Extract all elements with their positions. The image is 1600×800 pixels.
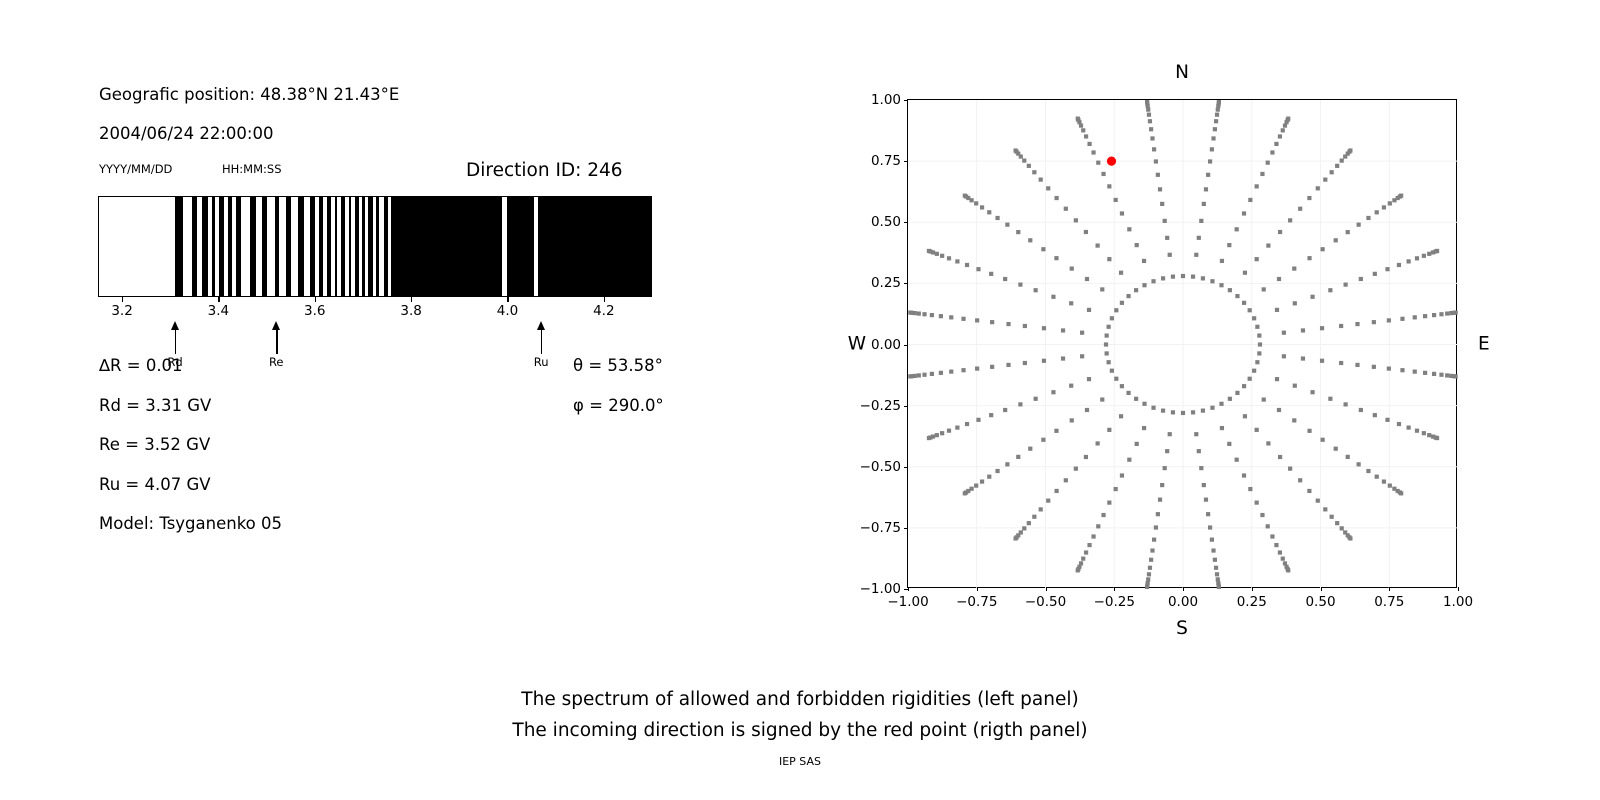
- y-tick-label: 1.00: [871, 92, 901, 108]
- scatter-point: [1107, 428, 1111, 432]
- rigidity-axis: 3.23.43.63.84.04.2RdReRu: [98, 297, 652, 311]
- scatter-point: [1397, 263, 1401, 267]
- forbidden-band: [192, 197, 197, 296]
- scatter-point: [1096, 524, 1100, 528]
- scatter-point: [975, 366, 979, 370]
- scatter-point: [1277, 277, 1281, 281]
- x-tick-mark: [908, 587, 909, 591]
- direction-id-label: Direction ID: 246: [466, 160, 623, 181]
- scatter-point: [947, 429, 951, 433]
- scatter-point: [1388, 484, 1392, 488]
- scatter-point: [1127, 458, 1131, 462]
- scatter-point: [1385, 418, 1389, 422]
- scatter-point: [1227, 442, 1231, 446]
- scatter-point: [1382, 205, 1386, 209]
- scatter-point: [1211, 548, 1215, 552]
- y-tick-label: 0.75: [871, 153, 901, 169]
- scatter-point: [1375, 210, 1379, 214]
- caption-line-2: The incoming direction is signed by the …: [0, 715, 1600, 746]
- geographic-position-label: Geografic position: 48.38°N 21.43°E: [99, 85, 399, 104]
- scatter-point: [1293, 384, 1297, 388]
- y-tick-label: 0.00: [871, 337, 901, 353]
- scatter-point: [1114, 308, 1118, 312]
- x-tick-label: −0.25: [1094, 594, 1135, 610]
- scatter-point: [1163, 466, 1167, 470]
- scatter-point: [1210, 406, 1214, 410]
- scatter-point: [949, 315, 953, 319]
- scatter-point: [1126, 391, 1130, 395]
- axis-tick-label: 4.0: [497, 303, 518, 319]
- scatter-point: [917, 311, 921, 315]
- scatter-point: [1298, 478, 1302, 482]
- scatter-point: [1142, 259, 1146, 263]
- scatter-point: [1282, 354, 1286, 358]
- scatter-point: [1213, 558, 1217, 562]
- scatter-point: [1023, 361, 1027, 365]
- scatter-point: [963, 194, 967, 198]
- scatter-point: [1355, 363, 1359, 367]
- scatter-point: [908, 310, 912, 314]
- scatter-point: [1321, 438, 1325, 442]
- scatter-point: [1087, 308, 1091, 312]
- scatter-point: [1248, 487, 1252, 491]
- scatter-point: [1217, 585, 1221, 589]
- scatter-point: [1154, 525, 1158, 529]
- forbidden-band: [236, 197, 240, 296]
- scatter-point: [1084, 230, 1088, 234]
- parameter-value: Ru = 4.07 GV: [99, 475, 211, 494]
- scatter-point: [1087, 377, 1091, 381]
- scatter-point: [1104, 342, 1108, 346]
- scatter-point: [1214, 566, 1218, 570]
- scatter-point: [922, 312, 926, 316]
- scatter-point: [1119, 414, 1123, 418]
- scatter-point: [1348, 148, 1352, 152]
- scatter-point: [1208, 159, 1212, 163]
- scatter-point: [990, 365, 994, 369]
- scatter-point: [1070, 418, 1074, 422]
- axis-tick-label: 3.8: [400, 303, 421, 319]
- scatter-point: [1202, 202, 1206, 206]
- scatter-point: [1096, 441, 1100, 445]
- scatter-point: [1255, 325, 1259, 329]
- x-tick-label: 0.00: [1168, 594, 1198, 610]
- x-tick-label: 0.50: [1305, 594, 1335, 610]
- scatter-point: [1339, 361, 1343, 365]
- scatter-point: [1454, 374, 1458, 378]
- marker-label: Ru: [534, 355, 549, 369]
- scatter-point: [1274, 543, 1278, 547]
- scatter-point: [927, 249, 931, 253]
- parameter-value: Re = 3.52 GV: [99, 435, 210, 454]
- scatter-point: [1454, 310, 1458, 314]
- scatter-point: [1006, 363, 1010, 367]
- scatter-point: [1423, 371, 1427, 375]
- scatter-point: [1235, 294, 1239, 298]
- forbidden-band: [384, 197, 387, 296]
- scatter-point: [1242, 473, 1246, 477]
- scatter-point: [1148, 566, 1152, 570]
- scatter-point: [1281, 557, 1285, 561]
- scatter-point: [1165, 449, 1169, 453]
- scatter-point: [1084, 550, 1088, 554]
- scatter-point: [1301, 328, 1305, 332]
- scatter-point: [1150, 136, 1154, 140]
- scatter-point: [1152, 538, 1156, 542]
- scatter-point: [1080, 354, 1084, 358]
- scatter-point: [1197, 236, 1201, 240]
- forbidden-band: [368, 197, 372, 296]
- date-format-hint: YYYY/MM/DD: [99, 162, 172, 176]
- scatter-point: [1427, 252, 1431, 256]
- scatter-point: [1051, 295, 1055, 299]
- scatter-point: [1055, 196, 1059, 200]
- scatter-point: [1252, 316, 1256, 320]
- scatter-point: [1022, 526, 1026, 530]
- scatter-point: [1005, 462, 1009, 466]
- scatter-point: [1215, 572, 1219, 576]
- figure-caption: The spectrum of allowed and forbidden ri…: [0, 684, 1600, 746]
- scatter-point: [1286, 117, 1290, 121]
- scatter-point: [995, 216, 999, 220]
- scatter-point: [1156, 173, 1160, 177]
- scatter-point: [1210, 538, 1214, 542]
- scatter-point: [1134, 397, 1138, 401]
- scatter-point: [987, 475, 991, 479]
- scatter-point: [1101, 172, 1105, 176]
- forbidden-band: [262, 197, 267, 296]
- scatter-point: [1148, 119, 1152, 123]
- scatter-point: [1255, 360, 1259, 364]
- scatter-point: [1087, 543, 1091, 547]
- scatter-point: [1307, 489, 1311, 493]
- scatter-point: [1385, 267, 1389, 271]
- scatter-point: [1427, 433, 1431, 437]
- scatter-point: [1076, 117, 1080, 121]
- scatter-point: [939, 371, 943, 375]
- scatter-point: [939, 314, 943, 318]
- scatter-point: [1101, 513, 1105, 517]
- scatter-point: [1445, 311, 1449, 315]
- compass-south-label: S: [1176, 618, 1188, 639]
- scatter-point: [1210, 147, 1214, 151]
- scatter-point: [1054, 256, 1058, 260]
- scatter-point: [1235, 458, 1239, 462]
- parameter-value: φ = 290.0°: [573, 396, 664, 415]
- scatter-point: [975, 318, 979, 322]
- scatter-point: [1076, 568, 1080, 572]
- scatter-point: [1142, 402, 1146, 406]
- scatter-point: [1013, 536, 1017, 540]
- compass-west-label: W: [848, 333, 866, 354]
- scatter-point: [961, 368, 965, 372]
- scatter-point: [1248, 308, 1252, 312]
- scatter-point: [922, 373, 926, 377]
- scatter-point: [1278, 550, 1282, 554]
- scatter-point: [1400, 368, 1404, 372]
- scatter-point: [1114, 198, 1118, 202]
- scatter-point: [1270, 150, 1274, 154]
- scatter-point: [935, 433, 939, 437]
- scatter-point: [1016, 230, 1020, 234]
- scatter-point: [1107, 184, 1111, 188]
- x-tick-label: −0.50: [1025, 594, 1066, 610]
- axis-tick-label: 3.6: [304, 303, 325, 319]
- scatter-point: [1307, 196, 1311, 200]
- scatter-point: [1252, 369, 1256, 373]
- scatter-point: [1266, 243, 1270, 247]
- scatter-point: [1150, 548, 1154, 552]
- scatter-point: [1262, 397, 1266, 401]
- scatter-point: [1255, 428, 1259, 432]
- scatter-point: [1199, 466, 1203, 470]
- parameter-value: Model: Tsyganenko 05: [99, 514, 282, 533]
- y-tick-mark: [904, 161, 908, 162]
- scatter-point: [1160, 483, 1164, 487]
- scatter-point: [1018, 283, 1022, 287]
- scatter-point: [1081, 557, 1085, 561]
- scatter-point: [1084, 134, 1088, 138]
- scatter-point: [1266, 161, 1270, 165]
- rigidity-spectrum-panel: Geografic position: 48.38°N 21.43°E 2004…: [0, 0, 700, 620]
- scatter-point: [1217, 100, 1221, 104]
- scatter-point: [1373, 413, 1377, 417]
- forbidden-band: [175, 197, 182, 296]
- y-tick-label: −0.25: [860, 398, 901, 414]
- scatter-point: [1328, 288, 1332, 292]
- forbidden-band: [335, 197, 338, 296]
- scatter-point: [1257, 333, 1261, 337]
- scatter-point: [1242, 211, 1246, 215]
- scatter-point: [1210, 279, 1214, 283]
- scatter-point: [1147, 113, 1151, 117]
- scatter-point: [1211, 136, 1215, 140]
- forbidden-band: [327, 197, 331, 296]
- scatter-point: [1310, 390, 1314, 394]
- scatter-point: [1027, 521, 1031, 525]
- scatter-point: [1206, 512, 1210, 516]
- y-tick-mark: [904, 100, 908, 101]
- scatter-point: [1266, 524, 1270, 528]
- scatter-point: [1235, 227, 1239, 231]
- axis-tick: [507, 297, 508, 302]
- scatter-point: [1074, 218, 1078, 222]
- scatter-point: [1445, 373, 1449, 377]
- parameter-value: θ = 53.58°: [573, 356, 663, 375]
- scatter-point: [1323, 178, 1327, 182]
- scatter-point: [1282, 331, 1286, 335]
- compass-north-label: N: [1175, 62, 1189, 83]
- scatter-point: [1120, 384, 1124, 388]
- scatter-point: [940, 254, 944, 258]
- axis-tick-label: 4.2: [593, 303, 614, 319]
- scatter-point: [1293, 301, 1297, 305]
- scatter-point: [1316, 499, 1320, 503]
- scatter-point: [1270, 534, 1274, 538]
- y-tick-mark: [904, 528, 908, 529]
- scatter-point: [1142, 283, 1146, 287]
- scatter-point: [1027, 164, 1031, 168]
- scatter-axes: N S W E −1.00−1.00−0.75−0.75−0.50−0.50−0…: [907, 99, 1457, 588]
- scatter-point: [1288, 467, 1292, 471]
- scatter-point: [1274, 142, 1278, 146]
- x-tick-mark: [1321, 587, 1322, 591]
- scatter-point: [1087, 142, 1091, 146]
- scatter-point: [1387, 366, 1391, 370]
- scatter-point: [1357, 223, 1361, 227]
- scatter-point: [1120, 301, 1124, 305]
- scatter-point: [1366, 469, 1370, 473]
- scatter-point: [1277, 408, 1281, 412]
- scatter-point: [1243, 271, 1247, 275]
- scatter-point: [1201, 276, 1205, 280]
- scatter-point: [1262, 287, 1266, 291]
- scatter-point: [965, 263, 969, 267]
- scatter-point: [1145, 585, 1149, 589]
- scatter-point: [1110, 369, 1114, 373]
- scatter-point: [1171, 275, 1175, 279]
- scatter-point: [1013, 148, 1017, 152]
- scatter-point: [1415, 256, 1419, 260]
- axis-tick: [604, 297, 605, 302]
- scatter-point: [1260, 172, 1264, 176]
- x-tick-label: 0.25: [1237, 594, 1267, 610]
- scatter-point: [1181, 411, 1185, 415]
- scatter-point: [930, 372, 934, 376]
- y-tick-label: 0.25: [871, 275, 901, 291]
- scatter-point: [1194, 253, 1198, 257]
- parameter-value: ∆R = 0.01: [99, 356, 183, 375]
- scatter-point: [1415, 429, 1419, 433]
- scatter-point: [1091, 534, 1095, 538]
- scatter-point: [1228, 288, 1232, 292]
- scatter-point: [1154, 159, 1158, 163]
- scatter-point: [1208, 525, 1212, 529]
- scatter-point: [1202, 483, 1206, 487]
- scatter-point: [1080, 331, 1084, 335]
- scatter-point: [976, 418, 980, 422]
- scatter-point: [1126, 294, 1130, 298]
- x-tick-mark: [1389, 587, 1390, 591]
- marker-label: Re: [269, 355, 284, 369]
- scatter-point: [1135, 442, 1139, 446]
- scatter-point: [1286, 568, 1290, 572]
- scatter-point: [1096, 161, 1100, 165]
- forbidden-band: [349, 197, 351, 296]
- scatter-point: [1255, 501, 1259, 505]
- scatter-point: [1243, 414, 1247, 418]
- scatter-point: [1204, 187, 1208, 191]
- scatter-point: [1107, 257, 1111, 261]
- scatter-point: [1152, 147, 1156, 151]
- scatter-point: [1320, 359, 1324, 363]
- scatter-point: [1344, 283, 1348, 287]
- scatter-point: [947, 256, 951, 260]
- scatter-point: [1085, 408, 1089, 412]
- y-tick-mark: [904, 283, 908, 284]
- y-tick-mark: [904, 467, 908, 468]
- scatter-point: [1114, 377, 1118, 381]
- y-tick-label: −1.00: [860, 581, 901, 597]
- scatter-point: [974, 484, 978, 488]
- scatter-point: [1288, 218, 1292, 222]
- x-tick-mark: [977, 587, 978, 591]
- scatter-point: [1191, 275, 1195, 279]
- scatter-point: [1206, 173, 1210, 177]
- caption-line-1: The spectrum of allowed and forbidden ri…: [0, 684, 1600, 715]
- y-tick-label: 0.50: [871, 214, 901, 230]
- scatter-point: [1278, 134, 1282, 138]
- x-tick-label: 0.75: [1374, 594, 1404, 610]
- scatter-point: [1022, 159, 1026, 163]
- scatter-point: [1151, 406, 1155, 410]
- scatter-point: [1181, 274, 1185, 278]
- scatter-point: [1161, 276, 1165, 280]
- scatter-point: [1248, 198, 1252, 202]
- scatter-point: [1214, 119, 1218, 123]
- scatter-point: [1340, 159, 1344, 163]
- scatter-point: [1215, 113, 1219, 117]
- scatter-point: [1032, 515, 1036, 519]
- scatter-point: [1163, 219, 1167, 223]
- forbidden-band: [286, 197, 291, 296]
- scatter-point: [1145, 100, 1149, 104]
- scatter-point: [955, 259, 959, 263]
- axis-tick: [218, 297, 219, 302]
- scatter-point: [980, 205, 984, 209]
- scatter-point: [1046, 499, 1050, 503]
- scatter-point: [1278, 230, 1282, 234]
- scatter-point: [1372, 365, 1376, 369]
- scatter-point: [1348, 536, 1352, 540]
- scatter-point: [1055, 489, 1059, 493]
- scatter-point: [1334, 238, 1338, 242]
- scatter-point: [1135, 243, 1139, 247]
- scatter-point: [1165, 236, 1169, 240]
- scatter-point: [1084, 455, 1088, 459]
- arrow-shaft: [175, 328, 176, 354]
- scatter-point: [917, 373, 921, 377]
- arrow-shaft: [276, 328, 277, 354]
- scatter-point: [1258, 342, 1262, 346]
- y-tick-label: −0.75: [860, 520, 901, 536]
- scatter-point: [1372, 320, 1376, 324]
- scatter-point: [930, 313, 934, 317]
- footer-credit: IEP SAS: [0, 755, 1600, 768]
- scatter-point: [1422, 431, 1426, 435]
- forbidden-band: [391, 197, 501, 296]
- scatter-point: [1366, 216, 1370, 220]
- scatter-point: [1051, 390, 1055, 394]
- scatter-point: [1069, 384, 1073, 388]
- forbidden-band: [341, 197, 345, 296]
- scatter-point: [1064, 478, 1068, 482]
- scatter-point: [1407, 259, 1411, 263]
- scatter-point: [1158, 498, 1162, 502]
- scatter-point: [1435, 249, 1439, 253]
- scatter-point: [1105, 333, 1109, 337]
- x-tick-mark: [1252, 587, 1253, 591]
- scatter-point: [1061, 328, 1065, 332]
- scatter-point: [1255, 257, 1259, 261]
- scatter-point: [1100, 397, 1104, 401]
- scatter-point: [1194, 432, 1198, 436]
- scatter-point: [1142, 426, 1146, 430]
- scatter-point: [963, 491, 967, 495]
- scatter-point: [1100, 287, 1104, 291]
- scatter-point: [1003, 277, 1007, 281]
- scatter-point: [1158, 187, 1162, 191]
